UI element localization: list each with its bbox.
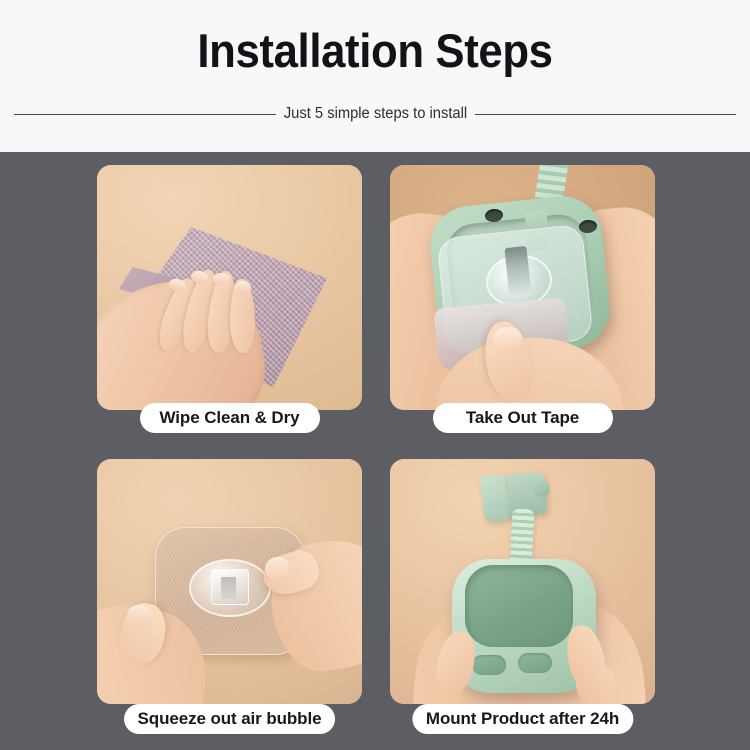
- step-caption-4: Mount Product after 24h: [412, 704, 633, 734]
- step-card-3: Squeeze out air bubble: [97, 459, 362, 704]
- subtitle-row: Just 5 simple steps to install: [14, 102, 736, 126]
- step-caption-1: Wipe Clean & Dry: [140, 403, 320, 433]
- step-card-4: Mount Product after 24h: [390, 459, 655, 704]
- step-caption-3: Squeeze out air bubble: [124, 704, 336, 734]
- holder-button-left: [472, 655, 506, 675]
- installation-steps-page: Installation Steps Just 5 simple steps t…: [0, 0, 750, 750]
- fingernail-4: [234, 281, 251, 293]
- bracket-nub: [534, 481, 550, 497]
- subtitle-rule-left: [14, 114, 276, 115]
- page-subtitle: Just 5 simple steps to install: [280, 105, 469, 123]
- photo-take-out-tape: [390, 165, 655, 410]
- wall-bracket-left: [479, 474, 510, 523]
- step-card-2: Take Out Tape: [390, 165, 655, 410]
- subtitle-rule-right: [475, 114, 737, 115]
- step-card-1: Wipe Clean & Dry: [97, 165, 362, 410]
- steps-grid: Wipe Clean & Dry Tak: [97, 165, 655, 750]
- step-caption-2: Take Out Tape: [433, 403, 613, 433]
- photo-mount-product-after-24h: [390, 459, 655, 704]
- page-header: Installation Steps Just 5 simple steps t…: [0, 0, 750, 152]
- shower-holder-face: [465, 565, 573, 647]
- holder-button-right: [518, 653, 552, 673]
- photo-squeeze-out-air-bubble: [97, 459, 362, 704]
- page-title: Installation Steps: [26, 22, 724, 80]
- sticker-core-slot: [221, 577, 236, 599]
- photo-wipe-clean-dry: [97, 165, 362, 410]
